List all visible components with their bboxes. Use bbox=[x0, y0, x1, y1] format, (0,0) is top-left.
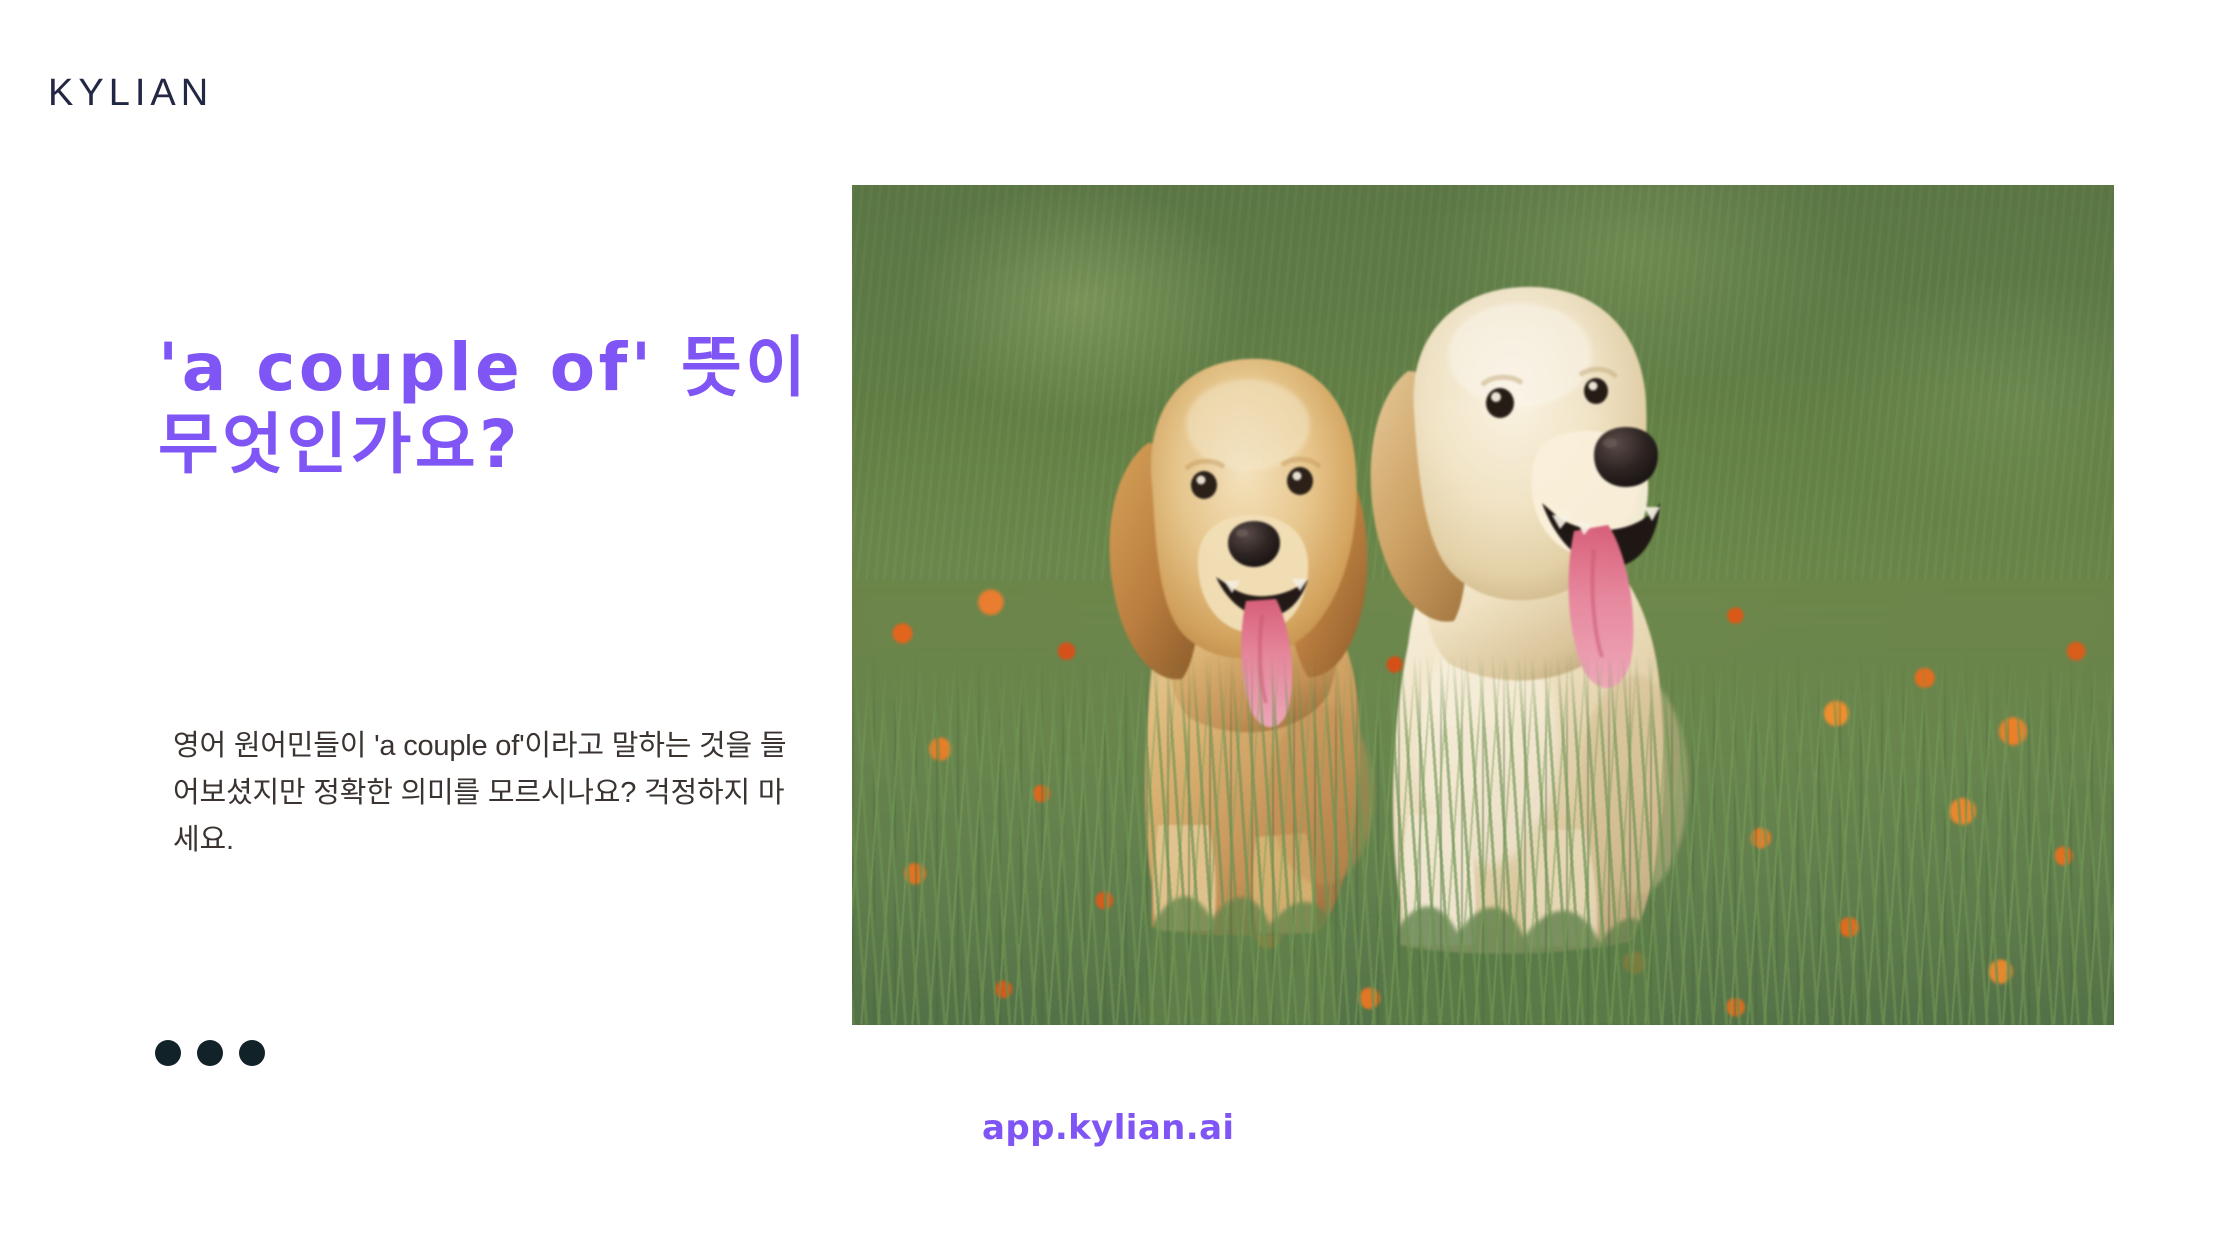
footer-url[interactable]: app.kylian.ai bbox=[982, 1108, 1234, 1148]
image-grass-blades bbox=[852, 655, 2114, 1025]
dots-decoration bbox=[155, 1040, 265, 1066]
dot-icon bbox=[155, 1040, 181, 1066]
dot-icon bbox=[239, 1040, 265, 1066]
headline-block: 'a couple of' 뜻이 무엇인가요? bbox=[158, 330, 818, 483]
page-title: 'a couple of' 뜻이 무엇인가요? bbox=[158, 330, 818, 483]
dot-icon bbox=[197, 1040, 223, 1066]
brand-logo: KYLIAN bbox=[48, 74, 213, 112]
body-paragraph: 영어 원어민들이 'a couple of'이라고 말하는 것을 들어보셨지만 … bbox=[173, 723, 793, 864]
slide-canvas: KYLIAN 'a couple of' 뜻이 무엇인가요? 영어 원어민들이 … bbox=[0, 0, 2240, 1260]
hero-image bbox=[852, 185, 2114, 1025]
